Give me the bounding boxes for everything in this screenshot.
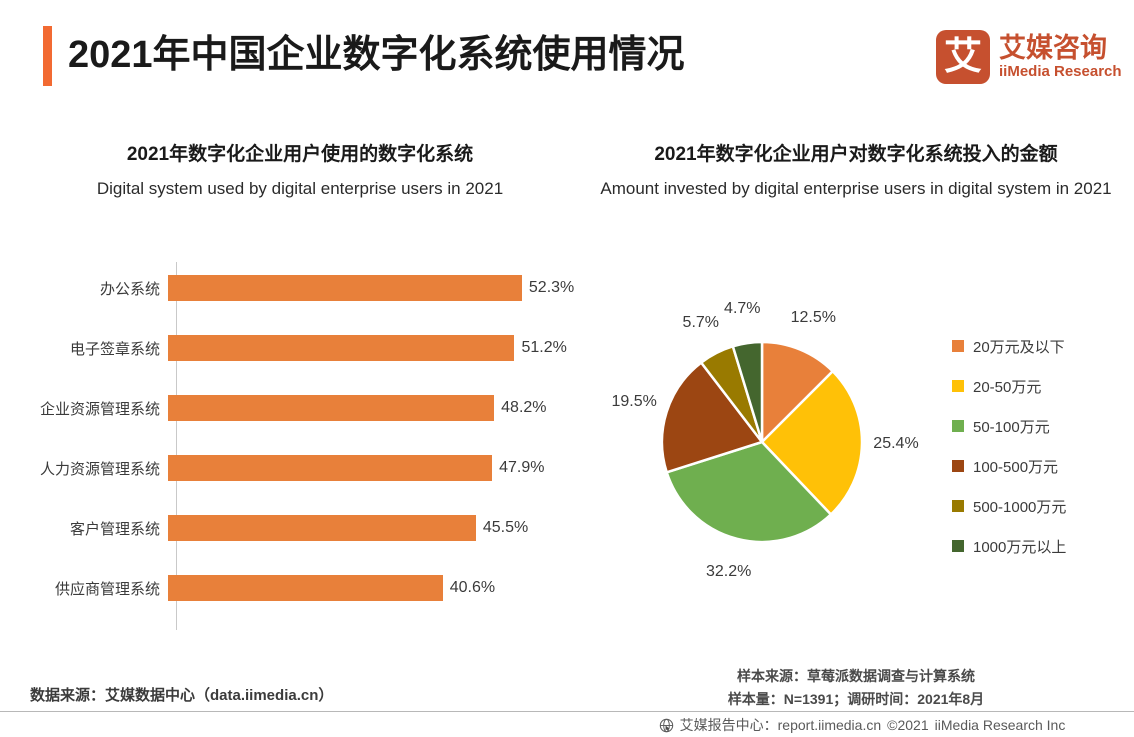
report-center-link[interactable]: 艾媒报告中心：report.iimedia.cn (680, 715, 882, 735)
legend-item[interactable]: 50-100万元 (952, 406, 1127, 446)
legend-swatch-icon (952, 340, 964, 352)
bar-track: 47.9% (168, 450, 590, 486)
legend-label: 20万元及以下 (973, 336, 1065, 357)
bar-value-label: 48.2% (501, 399, 546, 417)
legend-label: 1000万元以上 (973, 536, 1066, 557)
legend-swatch-icon (952, 420, 964, 432)
bar-track: 48.2% (168, 390, 590, 426)
pie-legend: 20万元及以下20-50万元50-100万元100-500万元500-1000万… (952, 326, 1127, 566)
bar-row: 电子签章系统51.2% (30, 330, 590, 366)
bar-row: 供应商管理系统40.6% (30, 570, 590, 606)
bar-fill (168, 455, 492, 481)
bar-value-label: 52.3% (529, 279, 574, 297)
legend-label: 20-50万元 (973, 376, 1041, 397)
bar-row: 办公系统52.3% (30, 270, 590, 306)
legend-swatch-icon (952, 500, 964, 512)
title-accent-bar (43, 26, 52, 86)
legend-label: 100-500万元 (973, 456, 1058, 477)
right-chart-title-cn: 2021年数字化企业用户对数字化系统投入的金额 (596, 142, 1116, 168)
legend-swatch-icon (952, 380, 964, 392)
bar-category-label: 人力资源管理系统 (30, 458, 168, 479)
pie-value-label: 32.2% (706, 563, 751, 581)
pie-value-label: 25.4% (873, 435, 918, 453)
pie-value-label: 19.5% (611, 393, 656, 411)
pie-value-label: 4.7% (724, 300, 760, 318)
bar-value-label: 51.2% (521, 339, 566, 357)
bar-track: 40.6% (168, 570, 590, 606)
right-chart-title-en: Amount invested by digital enterprise us… (596, 175, 1116, 203)
bar-fill (168, 575, 443, 601)
bar-value-label: 40.6% (450, 579, 495, 597)
bar-value-label: 45.5% (483, 519, 528, 537)
pie-slice-group (662, 342, 862, 542)
legend-swatch-icon (952, 460, 964, 472)
bar-track: 45.5% (168, 510, 590, 546)
bar-fill (168, 275, 522, 301)
bar-row: 客户管理系统45.5% (30, 510, 590, 546)
logo-text: 艾媒咨询 iiMedia Research (999, 33, 1122, 81)
footer-divider (0, 711, 1134, 712)
bar-category-label: 供应商管理系统 (30, 578, 168, 599)
bar-fill (168, 335, 514, 361)
bar-category-label: 电子签章系统 (30, 338, 168, 359)
legend-item[interactable]: 500-1000万元 (952, 486, 1127, 526)
footer-bar: 艾媒报告中心：report.iimedia.cn ©2021 iiMedia R… (596, 713, 1134, 737)
bar-fill (168, 395, 494, 421)
sample-source-note: 样本来源：草莓派数据调查与计算系统 (596, 666, 1116, 686)
bar-category-label: 客户管理系统 (30, 518, 168, 539)
pie-value-label: 12.5% (791, 309, 836, 327)
logo-mark-icon: 艾 (936, 30, 990, 84)
bar-category-label: 办公系统 (30, 278, 168, 299)
data-source-note: 数据来源：艾媒数据中心（data.iimedia.cn） (30, 684, 333, 705)
legend-item[interactable]: 20-50万元 (952, 366, 1127, 406)
globe-icon (659, 718, 674, 733)
left-chart-title-en: Digital system used by digital enterpris… (30, 175, 570, 203)
page-header: 2021年中国企业数字化系统使用情况 艾 艾媒咨询 iiMedia Resear… (0, 0, 1134, 112)
bar-row: 企业资源管理系统48.2% (30, 390, 590, 426)
sample-size-note: 样本量：N=1391；调研时间：2021年8月 (596, 689, 1116, 709)
legend-label: 50-100万元 (973, 416, 1050, 437)
page-title: 2021年中国企业数字化系统使用情况 (68, 26, 685, 84)
brand-logo: 艾 艾媒咨询 iiMedia Research (936, 26, 1122, 88)
bar-value-label: 47.9% (499, 459, 544, 477)
pie-value-label: 5.7% (683, 314, 719, 332)
legend-item[interactable]: 1000万元以上 (952, 526, 1127, 566)
legend-item[interactable]: 100-500万元 (952, 446, 1127, 486)
bar-chart: 办公系统52.3%电子签章系统51.2%企业资源管理系统48.2%人力资源管理系… (30, 262, 590, 630)
pie-chart: 12.5%25.4%32.2%19.5%5.7%4.7% (600, 300, 930, 600)
copyright-text: ©2021 (887, 717, 928, 733)
bar-row: 人力资源管理系统47.9% (30, 450, 590, 486)
bar-track: 51.2% (168, 330, 590, 366)
logo-name-cn: 艾媒咨询 (999, 33, 1122, 63)
bar-track: 52.3% (168, 270, 590, 306)
left-chart-title-cn: 2021年数字化企业用户使用的数字化系统 (30, 142, 570, 168)
legend-item[interactable]: 20万元及以下 (952, 326, 1127, 366)
company-text: iiMedia Research Inc (935, 717, 1066, 733)
logo-name-en: iiMedia Research (999, 63, 1122, 81)
legend-swatch-icon (952, 540, 964, 552)
legend-label: 500-1000万元 (973, 496, 1066, 517)
bar-category-label: 企业资源管理系统 (30, 398, 168, 419)
bar-fill (168, 515, 476, 541)
